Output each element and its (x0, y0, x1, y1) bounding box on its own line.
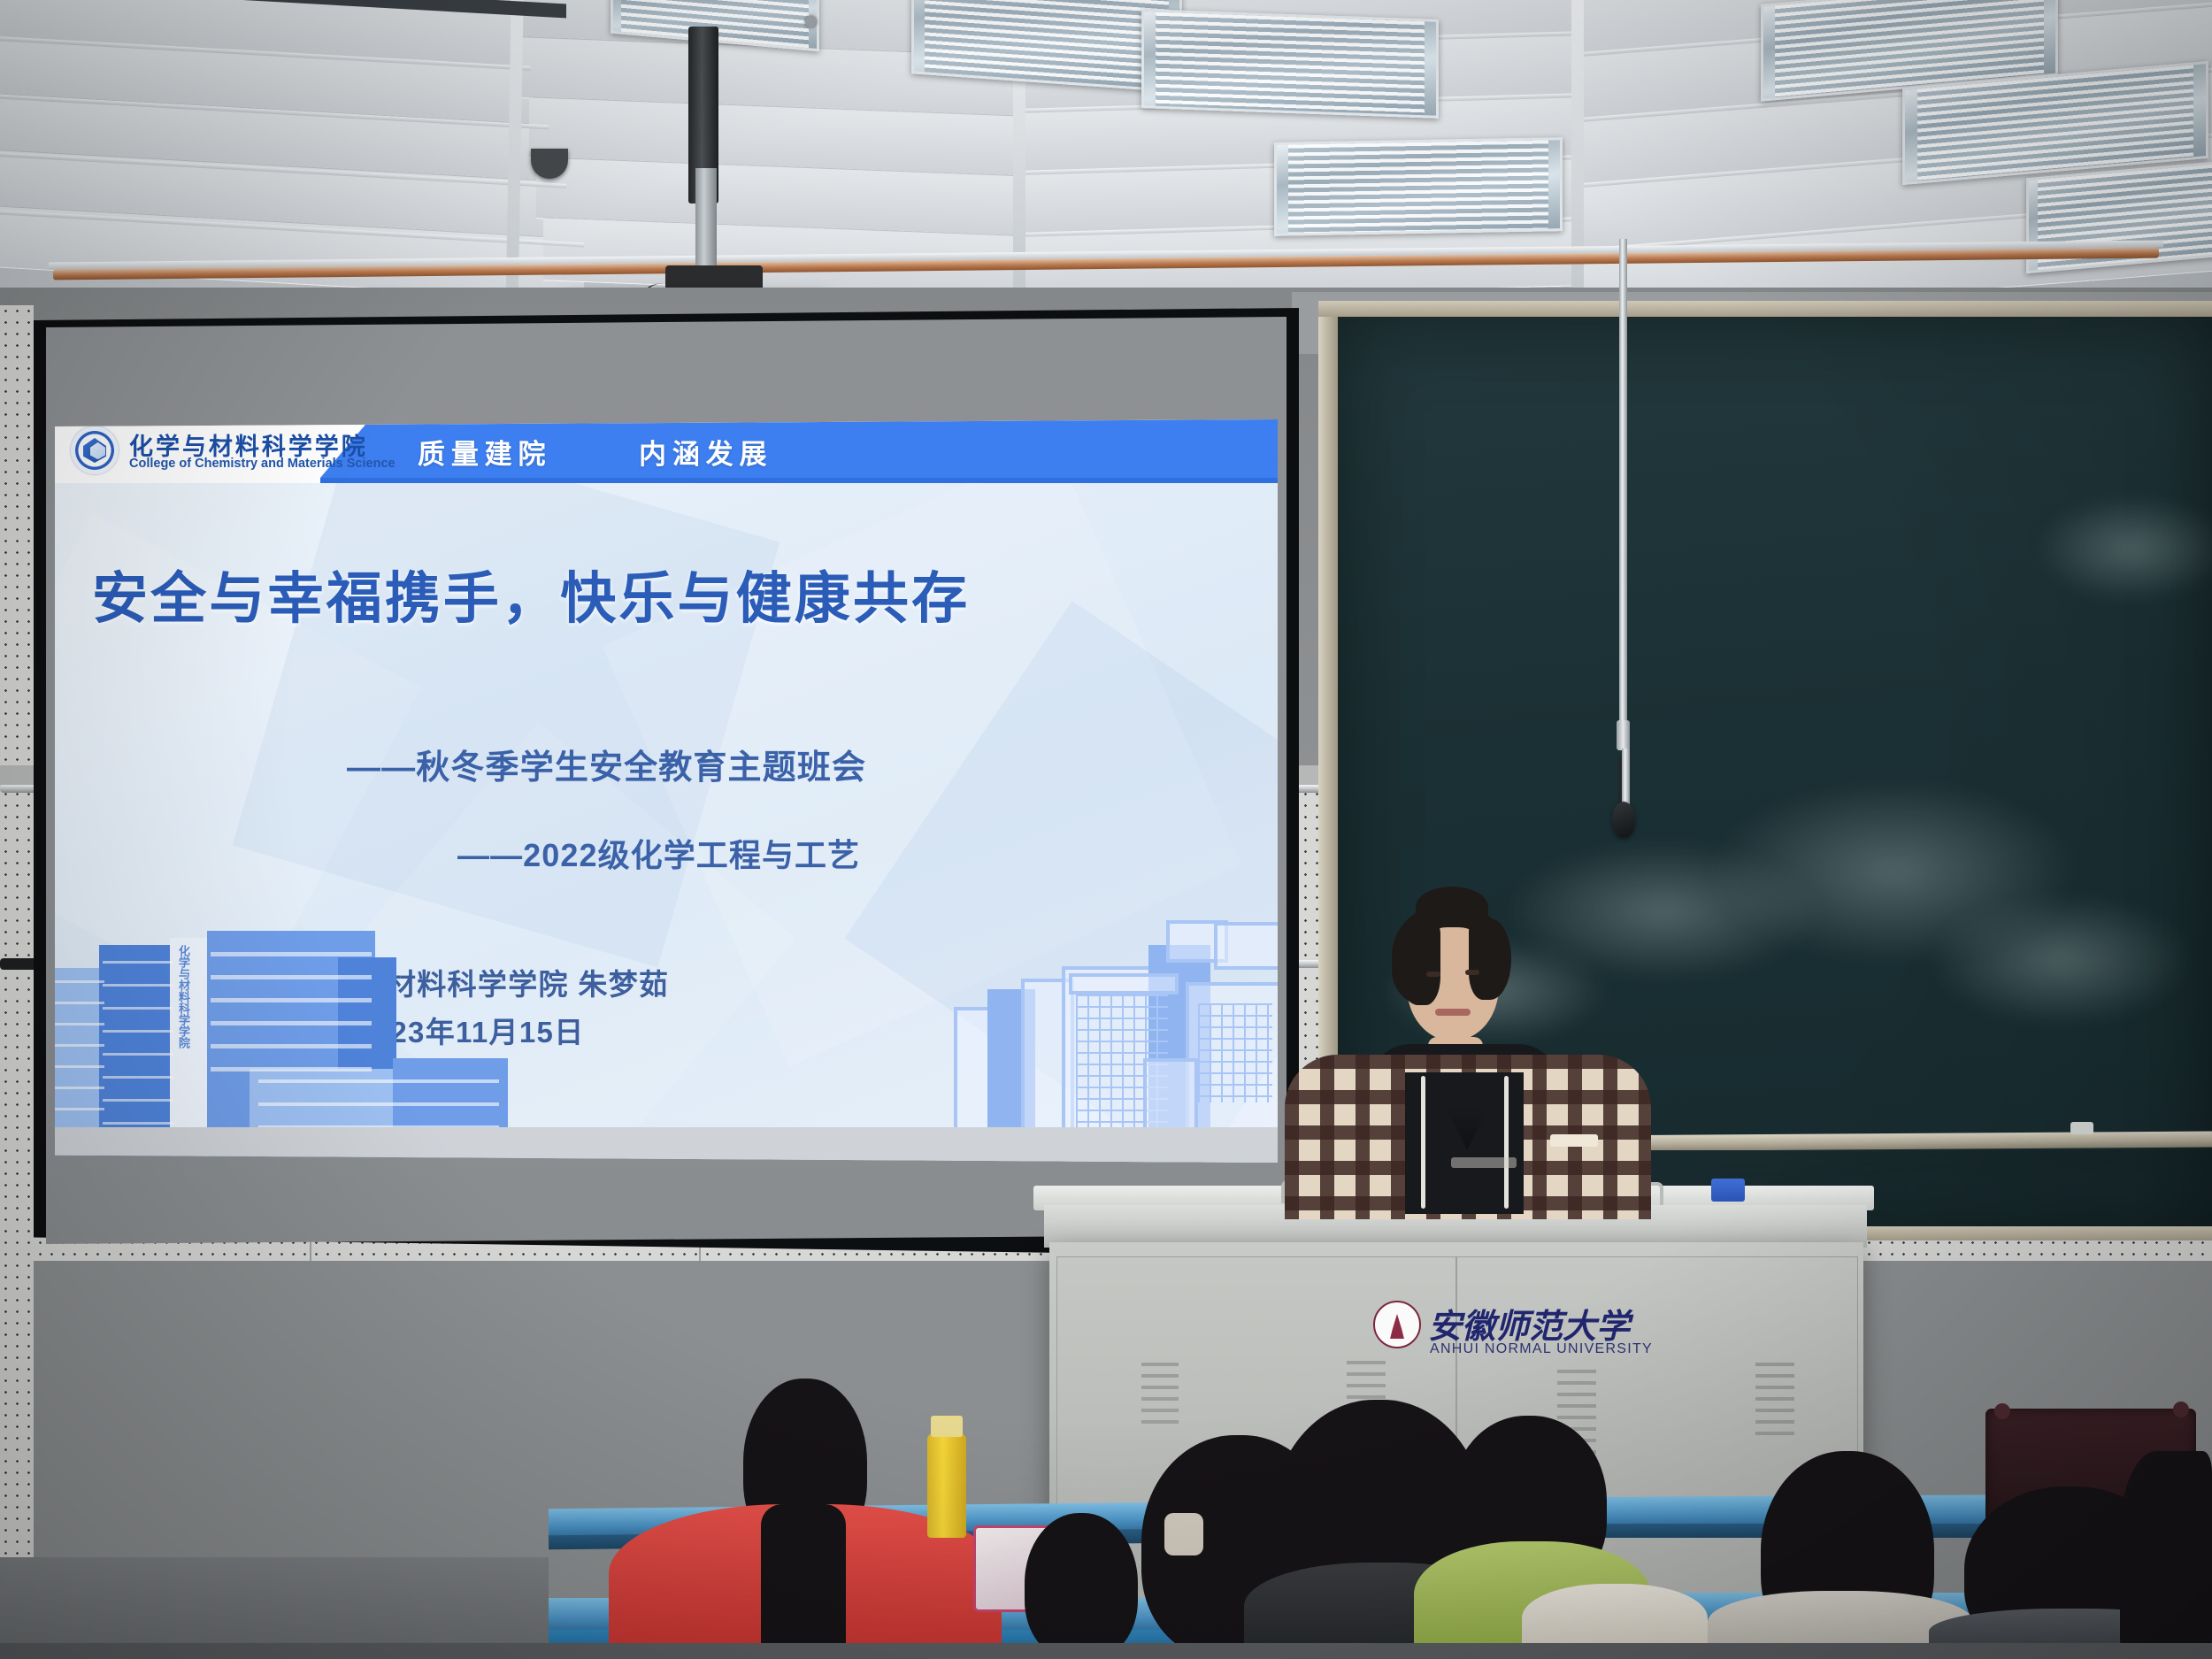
slide-title: 安全与幸福携手，快乐与健康共存 (92, 554, 970, 634)
student-hair (2120, 1451, 2212, 1659)
classroom-scene: 化学与材料科学学院 College of Chemistry and Mater… (0, 0, 2212, 1659)
hair-clip (1164, 1513, 1203, 1555)
university-name-cn: 安徽师范大学 (1428, 1299, 1630, 1348)
hanging-microphone (1612, 802, 1635, 837)
student-hair (1025, 1513, 1138, 1659)
podium-vent (1755, 1363, 1794, 1435)
slogan-right: 内涵发展 (639, 432, 772, 472)
university-seal-icon (1373, 1301, 1421, 1348)
college-building-illustration: 化学与材料科学学院 (55, 915, 506, 1163)
bottle-cap (931, 1416, 963, 1437)
ceiling-light (1274, 137, 1563, 236)
college-emblem-icon (71, 426, 119, 474)
slide-subtitle-2: ——2022级化学工程与工艺 (457, 830, 860, 876)
ceiling-light (1141, 9, 1439, 119)
university-name-en: ANHUI NORMAL UNIVERSITY (1430, 1341, 1653, 1357)
slogan-left: 质量建院 (418, 432, 551, 472)
microphone-pole (1619, 239, 1627, 743)
podium-vent (1141, 1363, 1179, 1430)
water-bottle[interactable] (927, 1433, 966, 1538)
sprinkler-head (805, 16, 817, 27)
college-name-en: College of Chemistry and Materials Scien… (129, 457, 396, 471)
slide-subtitle-1: ——秋冬季学生安全教育主题班会 (347, 740, 866, 788)
presentation-slide: 化学与材料科学学院 College of Chemistry and Mater… (55, 419, 1278, 1163)
ceiling (0, 0, 2212, 292)
building-vertical-label: 化学与材料科学学院 (175, 945, 192, 1048)
city-outline-illustration (949, 897, 1278, 1163)
marker-box[interactable] (1711, 1179, 1745, 1202)
microphone-joint (1617, 720, 1630, 750)
